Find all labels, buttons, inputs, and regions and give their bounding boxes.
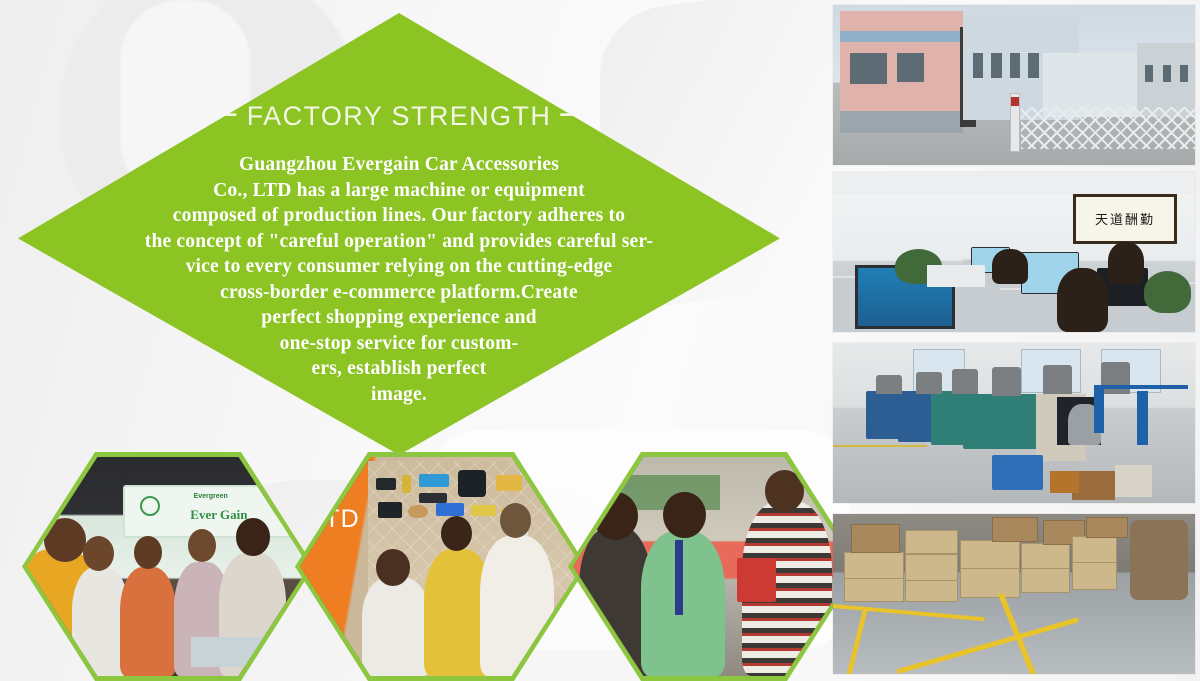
booth-brand-large: Ever Gain: [190, 507, 247, 523]
description-line: cross-border e-commerce platform.Create: [49, 280, 749, 306]
description-line: Co., LTD has a large machine or equipmen…: [49, 178, 749, 204]
wall-calligraphy-art: 天道酬勤: [1073, 194, 1177, 243]
page-title: —FACTORY STRENGTH—: [200, 101, 597, 132]
retractable-gate: [1021, 107, 1195, 149]
description-line: the concept of "careful operation" and p…: [49, 229, 749, 255]
booth-brand-small: Evergreen: [194, 493, 228, 500]
page-title-text: FACTORY STRENGTH: [247, 101, 551, 131]
photo-warehouse-cartons: [833, 514, 1195, 674]
company-logo-icon: [140, 496, 160, 516]
photo-production-line: [833, 343, 1195, 503]
photo-factory-entrance-gate: [833, 5, 1195, 165]
description-line: composed of production lines. Our factor…: [49, 203, 749, 229]
description-line: vice to every consumer relying on the cu…: [49, 254, 749, 280]
factory-strength-banner: —FACTORY STRENGTH— Guangzhou Evergain Ca…: [0, 0, 1200, 681]
wall-art-text: 天道酬勤: [1076, 197, 1174, 240]
photo-office-workspace: 天道酬勤: [833, 172, 1195, 332]
